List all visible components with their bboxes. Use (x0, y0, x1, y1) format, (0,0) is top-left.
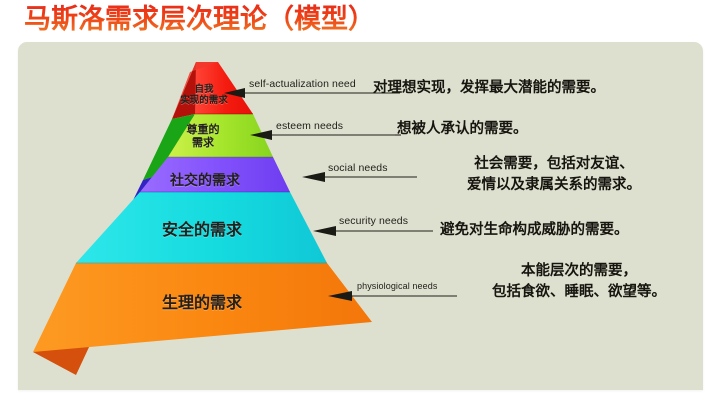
callout-en-security: security needs (339, 215, 408, 227)
pyramid-front-faces (33, 62, 372, 352)
pyramid-diagram (0, 0, 420, 400)
description-physiological: 本能层次的需要， 包括食欲、睡眠、欲望等。 (468, 261, 690, 302)
description-self-actualization: 对理想实现，发挥最大潜能的需要。 (373, 78, 605, 99)
tier-security (76, 192, 327, 263)
arrow-security (313, 226, 336, 236)
description-social: 社会需要，包括对友谊、 爱情以及隶属关系的需求。 (418, 154, 690, 195)
callout-en-social: social needs (328, 162, 388, 174)
description-esteem: 想被人承认的需要。 (397, 119, 528, 140)
slide-root: 马斯洛需求层次理论（模型） (0, 0, 711, 400)
callout-en-physiological: physiological needs (357, 281, 437, 291)
tier-self-actualization (195, 62, 253, 114)
callout-en-self-actualization: self-actualization need (249, 78, 356, 90)
callout-leaders-right (395, 0, 711, 400)
tier-physiological (33, 263, 372, 352)
callout-en-esteem: esteem needs (276, 120, 343, 132)
description-security: 避免对生命构成威胁的需要。 (440, 220, 629, 241)
arrow-social (302, 172, 325, 182)
